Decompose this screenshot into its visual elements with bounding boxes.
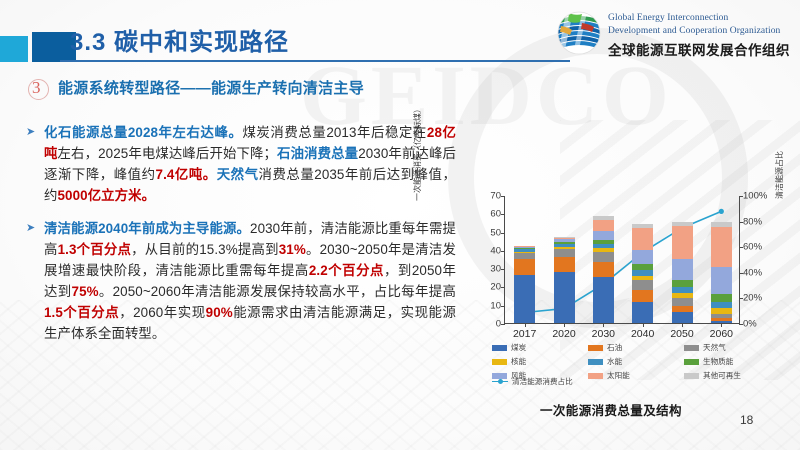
legend-swatch-icon xyxy=(588,373,603,379)
chart-bar-segment xyxy=(593,277,614,323)
chart-x-tick: 2020 xyxy=(542,328,586,340)
chart-x-tickmark xyxy=(721,323,722,327)
chart-bar-segment xyxy=(632,228,653,250)
chart-bar-segment xyxy=(672,226,693,259)
chart-bar-segment xyxy=(711,294,732,301)
bullet-item-1: ➤ 化石能源总量2028年左右达峰。煤炭消费总量2013年后稳定在28亿吨左右，… xyxy=(26,122,456,206)
chart-y-tickmark xyxy=(501,324,505,325)
chart-plot-area: 0102030405060700%20%40%60%80%100%2017202… xyxy=(504,196,740,324)
chart-legend-label: 其他可再生 xyxy=(703,370,741,381)
chart-bar-segment xyxy=(514,275,535,323)
chart-y2-tickmark xyxy=(739,247,743,248)
globe-icon xyxy=(556,10,602,56)
chart-bar-segment xyxy=(632,280,653,290)
chart-bar-segment xyxy=(554,257,575,272)
chart-y2-tick: 20% xyxy=(743,293,762,304)
chart-y-tick: 50 xyxy=(490,227,501,238)
chart-panel: 一次能源消费（亿吨标煤） 清洁能源占比 0102030405060700%20%… xyxy=(452,190,788,390)
chart-y2-tickmark xyxy=(739,222,743,223)
chart-legend-label: 水能 xyxy=(607,356,622,367)
chart-legend-item: 石油 xyxy=(588,342,684,353)
chart-bar xyxy=(514,246,535,323)
chart-bar-segment xyxy=(593,220,614,231)
chart-bar-segment xyxy=(593,262,614,277)
chart-bar-segment xyxy=(672,312,693,323)
chart-y2-tickmark xyxy=(739,298,743,299)
chart-bar-segment xyxy=(711,267,732,294)
chart-y-tick: 20 xyxy=(490,282,501,293)
chart-legend-label: 煤炭 xyxy=(511,342,526,353)
chart-bar-segment xyxy=(554,249,575,257)
org-logo: Global Energy Interconnection Developmen… xyxy=(556,8,796,60)
legend-swatch-icon xyxy=(492,359,507,365)
page-number: 18 xyxy=(740,413,753,427)
bullet-arrow-icon: ➤ xyxy=(26,221,35,234)
chart-x-tick: 2017 xyxy=(503,328,547,340)
chart-y2-axis-label: 清洁能源占比 xyxy=(774,130,785,220)
chart-bar xyxy=(672,222,693,323)
header-underline xyxy=(60,60,570,62)
legend-swatch-icon xyxy=(492,345,507,351)
chart-x-tick: 2040 xyxy=(621,328,665,340)
chart-legend-label: 天然气 xyxy=(703,342,726,353)
chart-bar-segment xyxy=(593,252,614,262)
chart-bar xyxy=(593,216,614,323)
chart-bar-segment xyxy=(632,250,653,265)
chart-y-tickmark xyxy=(501,306,505,307)
chart-x-tick: 2050 xyxy=(660,328,704,340)
chart-legend-label: 生物质能 xyxy=(703,356,733,367)
line-marker-icon xyxy=(492,378,508,385)
header-accent-cyan xyxy=(0,36,28,62)
chart-y2-tickmark xyxy=(739,324,743,325)
chart-y-tick: 10 xyxy=(490,300,501,311)
chart-y2-tickmark xyxy=(739,196,743,197)
chart-x-tick: 2030 xyxy=(581,328,625,340)
chart-y2-tick: 40% xyxy=(743,267,762,278)
chart-y-tick: 70 xyxy=(490,191,501,202)
chart-x-tickmark xyxy=(564,323,565,327)
chart-y2-tick: 0% xyxy=(743,319,757,330)
chart-x-tickmark xyxy=(525,323,526,327)
slide-canvas: GEIDCO 3.3 碳中和实现路径 xyxy=(0,0,800,450)
chart-bar-segment xyxy=(514,259,535,275)
bullet-arrow-icon: ➤ xyxy=(26,125,35,138)
chart-x-tickmark xyxy=(603,323,604,327)
chart-y-tickmark xyxy=(501,251,505,252)
section-subheading: 3 能源系统转型路径——能源生产转向清洁主导 xyxy=(28,76,468,102)
legend-swatch-icon xyxy=(684,345,699,351)
chart-bar-segment xyxy=(672,280,693,287)
chart-bar-segment xyxy=(672,259,693,280)
clean-energy-share-line xyxy=(505,196,741,324)
legend-swatch-icon xyxy=(588,345,603,351)
chart-bar xyxy=(554,237,575,323)
slide-header: 3.3 碳中和实现路径 xyxy=(0,0,800,68)
chart-bar-segment xyxy=(632,302,653,323)
bullet-list: ➤ 化石能源总量2028年左右达峰。煤炭消费总量2013年后稳定在28亿吨左右，… xyxy=(26,122,456,356)
logo-cn-name: 全球能源互联网发展合作组织 xyxy=(608,39,790,59)
chart-bar xyxy=(711,222,732,323)
chart-legend-item: 其他可再生 xyxy=(684,370,788,381)
chart-y-tickmark xyxy=(501,214,505,215)
bullet-text-2: 清洁能源2040年前成为主导能源。2030年前，清洁能源比重每年需提高1.3个百… xyxy=(44,218,456,344)
chart-y-tick: 60 xyxy=(490,209,501,220)
legend-swatch-icon xyxy=(684,359,699,365)
chart-legend-label: 石油 xyxy=(607,342,622,353)
chart-caption: 一次能源消费总量及结构 xyxy=(540,400,682,419)
chart-bar-segment xyxy=(711,227,732,267)
chart-legend-item: 水能 xyxy=(588,356,684,367)
chart-legend-item: 煤炭 xyxy=(492,342,588,353)
subheading-number: 3 xyxy=(32,78,41,98)
chart-y2-tick: 100% xyxy=(743,191,767,202)
chart-legend-item: 核能 xyxy=(492,356,588,367)
chart-y2-tick: 60% xyxy=(743,242,762,253)
logo-en-line1: Global Energy Interconnection xyxy=(608,13,728,23)
chart-y-tick: 30 xyxy=(490,264,501,275)
chart-y2-tick: 80% xyxy=(743,216,762,227)
chart-y-tickmark xyxy=(501,287,505,288)
chart-legend-item: 生物质能 xyxy=(684,356,788,367)
legend-swatch-icon xyxy=(588,359,603,365)
bullet-text-1: 化石能源总量2028年左右达峰。煤炭消费总量2013年后稳定在28亿吨左右，20… xyxy=(44,122,456,206)
chart-y-tickmark xyxy=(501,269,505,270)
legend-swatch-icon xyxy=(684,373,699,379)
chart-x-tickmark xyxy=(643,323,644,327)
logo-en-line2: Development and Cooperation Organization xyxy=(608,26,780,36)
chart-legend-line-item: 清洁能源消费占比 xyxy=(492,376,573,387)
chart-x-tick: 2060 xyxy=(699,328,743,340)
page-title: 3.3 碳中和实现路径 xyxy=(70,22,289,57)
chart-y-tickmark xyxy=(501,233,505,234)
chart-bar-segment xyxy=(672,306,693,313)
chart-bar-segment xyxy=(632,290,653,302)
chart-legend-line-label: 清洁能源消费占比 xyxy=(512,376,573,387)
chart-bar-segment xyxy=(554,272,575,323)
chart-y-axis-label: 一次能源消费（亿吨标煤） xyxy=(412,98,423,208)
subheading-text: 能源系统转型路径——能源生产转向清洁主导 xyxy=(58,77,364,98)
chart-legend-label: 核能 xyxy=(511,356,526,367)
chart-legend-label: 太阳能 xyxy=(607,370,630,381)
chart-y-tick: 40 xyxy=(490,245,501,256)
bullet-item-2: ➤ 清洁能源2040年前成为主导能源。2030年前，清洁能源比重每年需提高1.3… xyxy=(26,218,456,344)
chart-legend-item: 天然气 xyxy=(684,342,788,353)
chart-x-tickmark xyxy=(682,323,683,327)
chart-bar-segment xyxy=(672,298,693,306)
chart-y2-tickmark xyxy=(739,273,743,274)
chart-y-tickmark xyxy=(501,196,505,197)
chart-bar xyxy=(632,224,653,323)
chart-legend-item: 太阳能 xyxy=(588,370,684,381)
chart-bar-segment xyxy=(593,231,614,240)
